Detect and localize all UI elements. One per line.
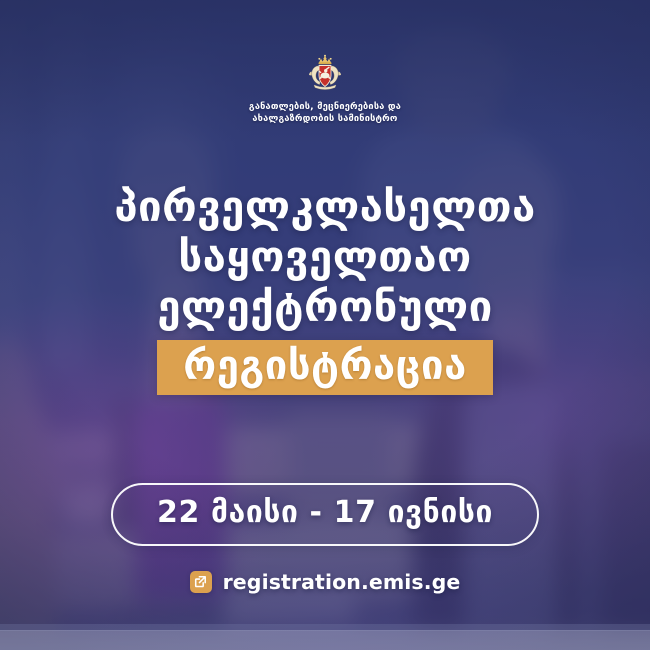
ministry-logo-block: განათლების, მეცნიერებისა და ახალგაზრდობი…: [249, 54, 401, 126]
headline-line-3: ელექტრონული: [114, 282, 535, 332]
ministry-name-text: განათლების, მეცნიერებისა და ახალგაზრდობი…: [249, 101, 401, 126]
date-range-badge: 22 მაისი - 17 ივნისი: [111, 483, 539, 546]
registration-url-text[interactable]: registration.emis.ge: [223, 570, 461, 594]
headline-line-2: საყოველთაო: [114, 232, 535, 282]
registration-poster: განათლების, მეცნიერებისა და ახალგაზრდობი…: [0, 0, 650, 650]
georgia-coat-of-arms-icon: [305, 54, 345, 94]
headline-line-1: პირველკლასელთა: [114, 182, 535, 232]
registration-link[interactable]: registration.emis.ge: [190, 570, 461, 594]
highlight-wrapper: რეგისტრაცია: [157, 340, 492, 395]
poster-content: განათლების, მეცნიერებისა და ახალგაზრდობი…: [0, 0, 650, 650]
external-link-icon[interactable]: [190, 571, 212, 593]
page-title: პირველკლასელთა საყოველთაო ელექტრონული: [114, 182, 535, 332]
registration-highlight-badge: რეგისტრაცია: [157, 340, 492, 395]
